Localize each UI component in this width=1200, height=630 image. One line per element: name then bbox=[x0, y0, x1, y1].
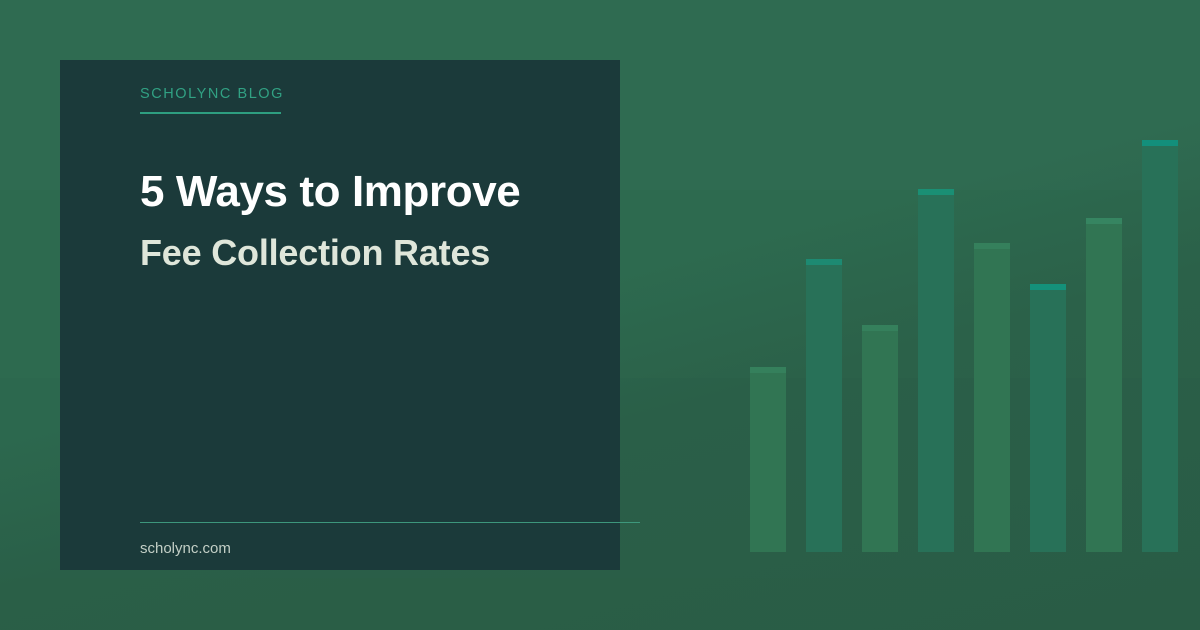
bar-body-1 bbox=[750, 373, 786, 552]
bar-6 bbox=[1030, 284, 1066, 552]
brand-eyebrow: SCHOLYNC BLOG bbox=[140, 84, 284, 114]
page-title: 5 Ways to Improve Fee Collection Rates bbox=[140, 165, 600, 275]
bar-2 bbox=[806, 259, 842, 552]
bar-1 bbox=[750, 367, 786, 552]
bar-3 bbox=[862, 325, 898, 552]
bar-7 bbox=[1086, 218, 1122, 552]
bar-body-8 bbox=[1142, 146, 1178, 552]
title-line-1: 5 Ways to Improve bbox=[140, 165, 600, 219]
bar-body-2 bbox=[806, 265, 842, 552]
bar-body-4 bbox=[918, 195, 954, 552]
panel-footer: scholync.com bbox=[140, 522, 640, 559]
eyebrow-label: SCHOLYNC BLOG bbox=[140, 84, 284, 104]
content-panel: SCHOLYNC BLOG 5 Ways to Improve Fee Coll… bbox=[60, 60, 620, 570]
bar-4 bbox=[918, 189, 954, 552]
background-band-bottom bbox=[0, 578, 1200, 630]
title-line-2: Fee Collection Rates bbox=[140, 231, 600, 275]
bar-body-5 bbox=[974, 249, 1010, 552]
bar-8 bbox=[1142, 140, 1178, 552]
eyebrow-underline bbox=[140, 112, 281, 114]
footer-divider bbox=[140, 522, 640, 523]
site-url: scholync.com bbox=[140, 539, 640, 559]
bar-chart bbox=[750, 140, 1172, 552]
bar-body-3 bbox=[862, 331, 898, 552]
bar-body-7 bbox=[1086, 224, 1122, 552]
poster-canvas: SCHOLYNC BLOG 5 Ways to Improve Fee Coll… bbox=[0, 0, 1200, 630]
bar-body-6 bbox=[1030, 290, 1066, 552]
bar-5 bbox=[974, 243, 1010, 552]
